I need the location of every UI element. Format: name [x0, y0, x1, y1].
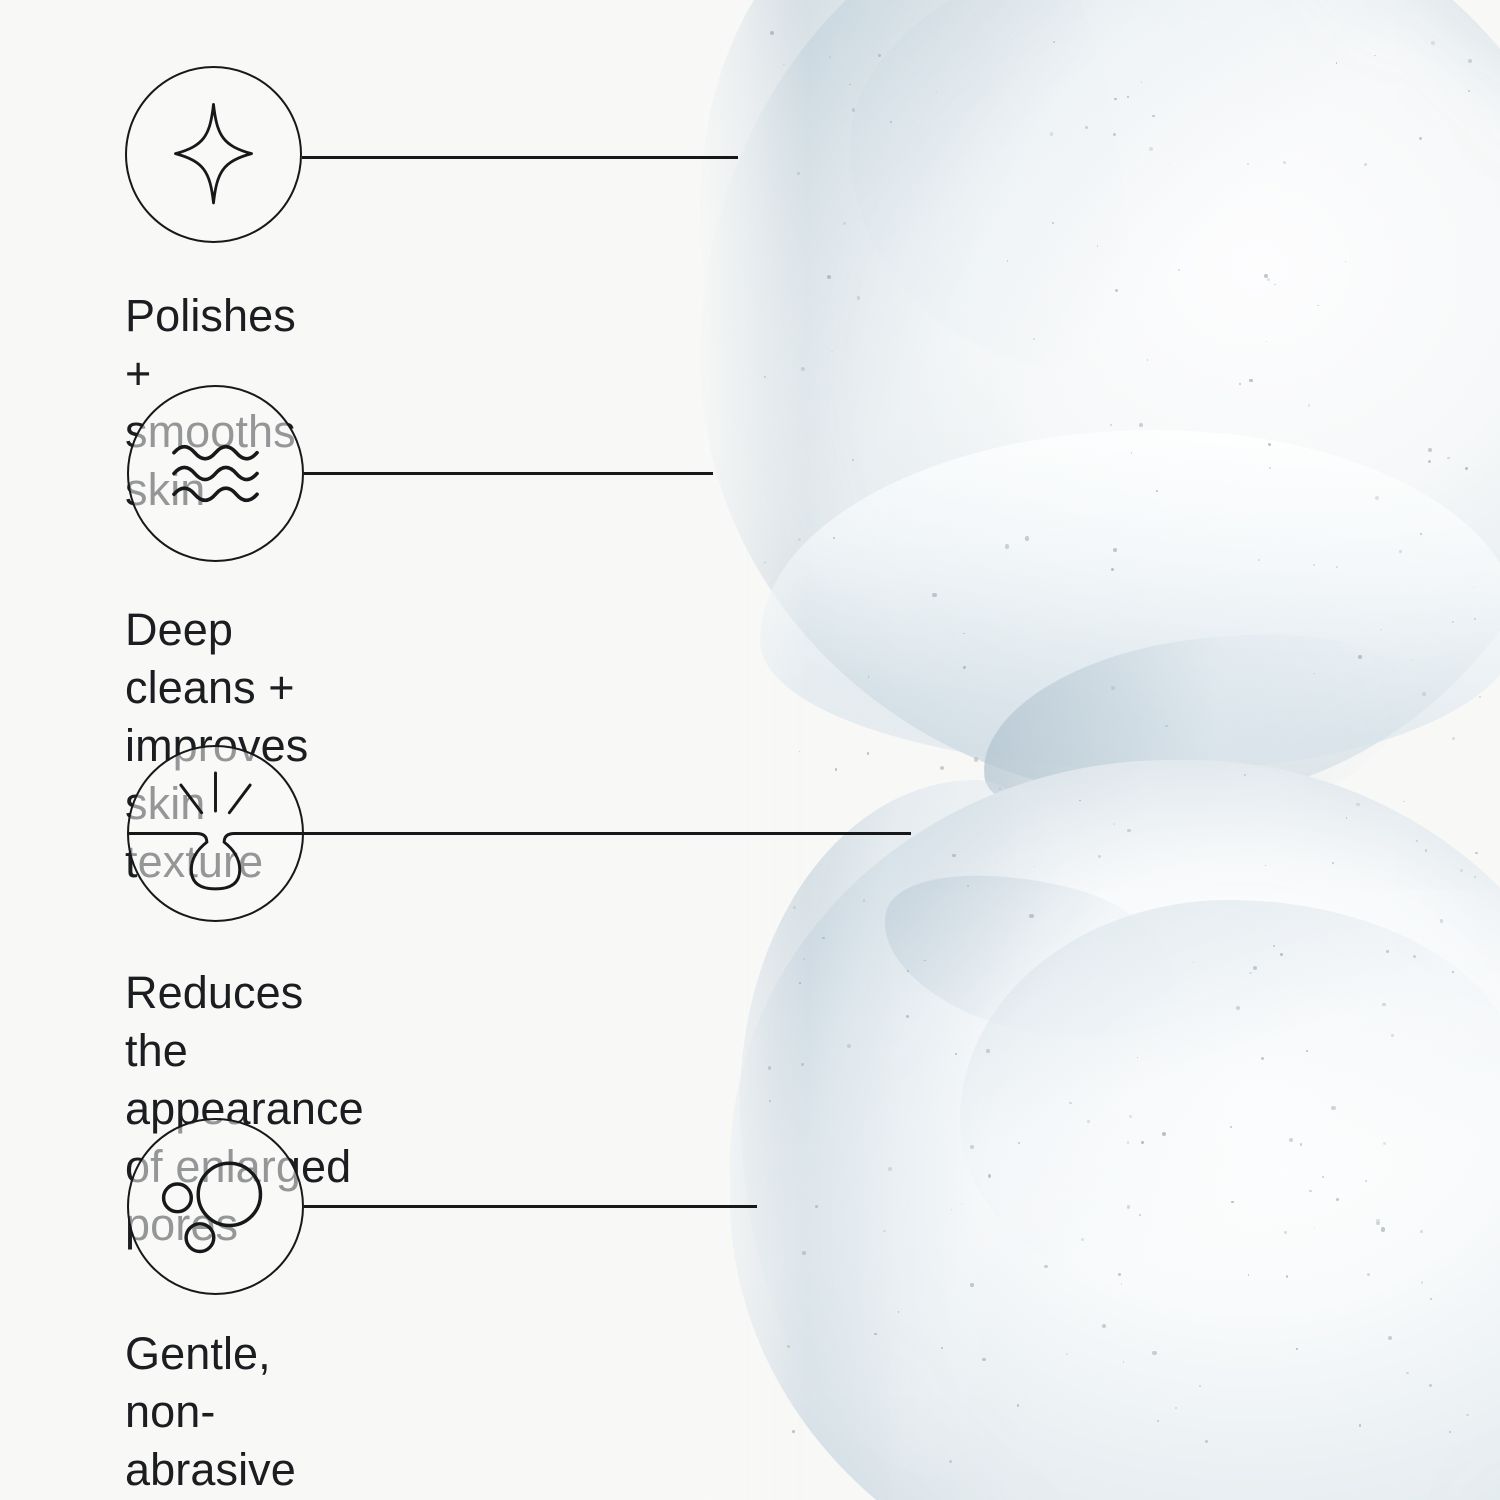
- texture-speck: [988, 1174, 992, 1178]
- texture-speck: [1416, 840, 1418, 842]
- texture-speck: [941, 1347, 943, 1349]
- texture-speck: [1141, 82, 1142, 83]
- texture-speck: [827, 275, 831, 279]
- texture-speck: [833, 537, 836, 540]
- cream-upper-rim: [760, 430, 1500, 770]
- texture-speck: [1249, 972, 1251, 974]
- texture-speck: [1468, 90, 1470, 92]
- texture-speck: [1358, 655, 1362, 659]
- texture-speck: [1110, 424, 1112, 426]
- texture-speck: [1005, 544, 1009, 548]
- texture-speck: [1007, 260, 1009, 262]
- sparkle-icon: [127, 68, 300, 241]
- texture-speck: [1346, 817, 1348, 819]
- texture-speck: [792, 1430, 795, 1433]
- texture-speck: [843, 222, 846, 225]
- texture-speck: [1052, 222, 1054, 224]
- texture-speck: [1449, 1431, 1451, 1433]
- texture-speck: [1157, 1420, 1159, 1422]
- texture-speck: [802, 1251, 806, 1255]
- texture-speck: [1429, 1384, 1432, 1387]
- texture-speck: [1162, 1132, 1166, 1136]
- texture-speck: [1420, 1230, 1423, 1233]
- texture-speck: [1123, 1361, 1124, 1362]
- texture-speck: [1468, 59, 1472, 63]
- texture-speck: [1102, 1324, 1106, 1328]
- texture-speck: [1066, 1353, 1068, 1355]
- texture-speck: [1098, 855, 1101, 858]
- texture-speck: [1375, 496, 1379, 500]
- texture-speck: [1420, 533, 1422, 535]
- texture-speck: [1147, 359, 1148, 360]
- texture-speck: [1383, 1142, 1387, 1146]
- texture-speck: [1149, 147, 1153, 151]
- texture-speck: [1386, 950, 1389, 953]
- texture-speck: [1156, 490, 1158, 492]
- texture-speck: [1419, 137, 1422, 140]
- texture-speck: [999, 787, 1002, 790]
- connector-line-2: [304, 472, 713, 475]
- infographic-canvas: Polishes + smooths skin Deep cleans + im…: [0, 0, 1500, 1500]
- texture-speck: [852, 459, 854, 461]
- texture-speck: [1139, 423, 1143, 427]
- feature-caption-4: Gentle, non-abrasive pumice granules: [125, 1325, 298, 1500]
- texture-speck: [770, 31, 774, 35]
- texture-speck: [1258, 559, 1260, 561]
- texture-speck: [1131, 452, 1133, 454]
- texture-speck: [986, 1049, 990, 1053]
- texture-speck: [949, 1460, 952, 1463]
- texture-speck: [1050, 132, 1054, 136]
- granules-icon-badge: [127, 1118, 304, 1295]
- cream-upper-ridge: [850, 0, 1470, 370]
- texture-speck: [1137, 1057, 1138, 1058]
- texture-speck: [961, 1204, 962, 1205]
- texture-speck: [1111, 686, 1115, 690]
- texture-speck: [764, 562, 766, 564]
- texture-speck: [1248, 1274, 1250, 1276]
- texture-speck: [1391, 1034, 1394, 1037]
- texture-speck: [803, 958, 805, 960]
- texture-speck: [852, 108, 856, 112]
- texture-speck: [1331, 1106, 1335, 1110]
- texture-speck: [1273, 945, 1275, 947]
- texture-speck: [963, 633, 965, 635]
- texture-speck: [1296, 1348, 1297, 1349]
- texture-speck: [1322, 1176, 1324, 1178]
- texture-speck: [1284, 1231, 1287, 1234]
- texture-speck: [1425, 849, 1427, 851]
- texture-speck: [883, 1230, 885, 1232]
- texture-speck: [907, 970, 909, 972]
- cream-lower-shadow: [740, 780, 1120, 1480]
- texture-speck: [1269, 467, 1271, 469]
- texture-speck: [974, 757, 978, 761]
- texture-speck: [936, 92, 938, 94]
- texture-speck: [970, 1283, 974, 1287]
- texture-speck: [1447, 457, 1450, 460]
- texture-speck: [1152, 1351, 1156, 1355]
- texture-speck: [783, 64, 785, 66]
- texture-speck: [1452, 621, 1454, 623]
- texture-speck: [1289, 1138, 1293, 1142]
- cream-scoop-upper: [700, 0, 1500, 800]
- texture-speck: [874, 1333, 877, 1336]
- texture-speck: [1264, 274, 1268, 278]
- texture-speck: [868, 676, 870, 678]
- texture-speck: [955, 1053, 957, 1055]
- texture-speck: [1280, 953, 1283, 956]
- texture-speck: [1111, 568, 1114, 571]
- texture-speck: [1376, 1219, 1380, 1223]
- texture-speck: [963, 666, 966, 669]
- texture-speck: [863, 899, 866, 902]
- sparkle-icon-badge: [125, 66, 302, 243]
- texture-speck: [1364, 163, 1368, 167]
- texture-speck: [951, 1209, 952, 1210]
- texture-speck: [1127, 1205, 1131, 1209]
- texture-speck: [1034, 866, 1036, 868]
- texture-speck: [1359, 1424, 1362, 1427]
- texture-speck: [1381, 1227, 1385, 1231]
- texture-speck: [1097, 245, 1099, 247]
- texture-speck: [1230, 1126, 1232, 1128]
- texture-speck: [787, 1345, 791, 1349]
- texture-speck: [940, 766, 944, 770]
- texture-speck: [798, 538, 801, 541]
- texture-speck: [924, 960, 926, 962]
- texture-speck: [1428, 448, 1432, 452]
- texture-speck: [1231, 1201, 1234, 1204]
- texture-speck: [801, 1063, 805, 1067]
- texture-speck: [1127, 829, 1131, 833]
- texture-speck: [1261, 1057, 1264, 1060]
- texture-speck: [1406, 1372, 1409, 1375]
- texture-speck: [1129, 1115, 1132, 1118]
- texture-speck: [1205, 1440, 1208, 1443]
- texture-speck: [878, 54, 881, 57]
- texture-speck: [847, 1044, 851, 1048]
- texture-speck: [1018, 1142, 1020, 1144]
- connector-line-1: [302, 156, 738, 159]
- texture-speck: [1332, 862, 1335, 865]
- texture-speck: [1412, 660, 1413, 661]
- texture-speck: [1029, 914, 1033, 918]
- texture-speck: [1247, 163, 1249, 165]
- texture-speck: [1127, 1141, 1129, 1143]
- texture-speck: [898, 1311, 899, 1312]
- texture-speck: [1253, 966, 1257, 970]
- texture-speck: [1376, 1222, 1379, 1225]
- texture-speck: [1266, 341, 1268, 343]
- texture-speck: [1460, 869, 1463, 872]
- texture-speck: [967, 885, 969, 887]
- texture-speck: [1309, 1190, 1311, 1192]
- texture-speck: [1399, 550, 1402, 553]
- cream-scoop-lower: [730, 760, 1500, 1500]
- texture-speck: [764, 376, 766, 378]
- texture-speck: [1069, 1102, 1072, 1105]
- cream-crease-upper: [970, 611, 1421, 849]
- texture-speck: [1382, 1003, 1386, 1007]
- texture-speck: [1479, 696, 1481, 698]
- texture-speck: [1113, 548, 1117, 552]
- texture-speck: [1421, 1281, 1424, 1284]
- wavy-lines-icon-badge: [127, 385, 304, 562]
- texture-speck: [1118, 1273, 1121, 1276]
- texture-speck: [1025, 536, 1029, 540]
- connector-line-4: [304, 1205, 757, 1208]
- texture-speck: [1239, 383, 1241, 385]
- texture-speck: [1336, 566, 1338, 568]
- texture-speck: [1440, 919, 1444, 923]
- texture-speck: [1380, 629, 1381, 630]
- texture-speck: [1017, 1404, 1020, 1407]
- texture-speck: [982, 1358, 986, 1362]
- texture-speck: [799, 751, 800, 752]
- texture-speck: [857, 296, 861, 300]
- texture-speck: [1033, 338, 1035, 340]
- texture-speck: [1053, 41, 1055, 43]
- texture-speck: [1249, 379, 1253, 383]
- texture-speck: [1283, 161, 1286, 164]
- texture-speck: [1113, 133, 1116, 136]
- texture-speck: [1475, 852, 1478, 855]
- texture-speck: [1345, 261, 1346, 262]
- texture-speck: [1152, 115, 1155, 118]
- texture-speck: [1428, 460, 1432, 464]
- texture-speck: [1087, 1120, 1090, 1123]
- texture-speck: [831, 351, 832, 352]
- connector-line-3: [270, 832, 911, 835]
- texture-speck: [1413, 955, 1416, 958]
- texture-speck: [1121, 1283, 1123, 1285]
- cream-crease-lower: [866, 846, 1193, 1064]
- texture-speck: [1452, 737, 1455, 740]
- texture-speck: [1127, 96, 1129, 98]
- texture-speck: [888, 1167, 892, 1171]
- texture-speck: [1175, 1407, 1177, 1409]
- texture-speck: [829, 56, 831, 58]
- texture-speck: [867, 752, 870, 755]
- texture-speck: [1044, 1265, 1048, 1269]
- texture-speck: [970, 1145, 974, 1149]
- texture-speck: [1356, 803, 1360, 807]
- texture-speck: [1178, 269, 1180, 271]
- texture-speck: [1081, 1238, 1084, 1241]
- texture-speck: [1313, 673, 1315, 675]
- texture-speck: [1313, 564, 1316, 567]
- texture-speck: [1308, 404, 1310, 406]
- photo-left-fade: [690, 0, 810, 1500]
- texture-speck: [1274, 284, 1275, 285]
- texture-speck: [799, 982, 801, 984]
- texture-speck: [1141, 1141, 1144, 1144]
- texture-speck: [1317, 305, 1318, 306]
- texture-speck: [835, 768, 837, 770]
- texture-speck: [1465, 467, 1468, 470]
- texture-speck: [1336, 62, 1338, 64]
- texture-speck: [1367, 1273, 1370, 1276]
- texture-speck: [1336, 1198, 1339, 1201]
- texture-speck: [1139, 1214, 1141, 1216]
- texture-speck: [801, 367, 805, 371]
- texture-speck: [1422, 692, 1426, 696]
- texture-speck: [952, 854, 956, 858]
- texture-speck: [1265, 865, 1266, 866]
- cream-upper-shadow: [700, 0, 1130, 630]
- wavy-lines-icon: [129, 387, 302, 560]
- texture-speck: [768, 1066, 772, 1070]
- texture-speck: [793, 906, 796, 909]
- texture-speck: [1474, 618, 1476, 620]
- texture-speck: [797, 172, 800, 175]
- texture-speck: [1165, 725, 1168, 728]
- texture-speck: [1267, 278, 1270, 281]
- texture-speck: [1403, 801, 1405, 803]
- texture-speck: [769, 1100, 771, 1102]
- texture-speck: [1300, 1143, 1303, 1146]
- texture-speck: [849, 84, 850, 85]
- texture-speck: [1085, 126, 1088, 129]
- texture-speck: [1306, 1050, 1308, 1052]
- texture-speck: [1474, 876, 1476, 878]
- texture-speck: [1169, 163, 1170, 164]
- granules-icon: [129, 1120, 302, 1293]
- texture-speck: [1193, 962, 1194, 963]
- cream-lower-sweep: [960, 900, 1500, 1300]
- texture-speck: [815, 1205, 819, 1209]
- texture-speck: [1113, 823, 1116, 826]
- texture-speck: [1286, 1275, 1289, 1278]
- texture-speck: [1079, 800, 1081, 802]
- texture-speck: [1115, 289, 1118, 292]
- texture-speck: [1199, 1385, 1201, 1387]
- texture-speck: [1268, 443, 1271, 446]
- texture-speck: [1466, 1414, 1469, 1417]
- texture-speck: [1430, 1298, 1432, 1300]
- texture-speck: [890, 121, 892, 123]
- texture-speck: [1473, 587, 1474, 588]
- texture-speck: [1314, 1228, 1316, 1230]
- texture-speck: [1388, 1336, 1392, 1340]
- texture-speck: [1365, 1180, 1367, 1182]
- texture-speck: [1114, 98, 1116, 100]
- texture-speck: [1452, 971, 1454, 973]
- texture-speck: [932, 593, 936, 597]
- texture-speck: [906, 1015, 909, 1018]
- texture-speck: [1244, 774, 1246, 776]
- texture-speck: [822, 937, 824, 939]
- texture-speck: [1236, 1006, 1240, 1010]
- texture-speck: [1374, 55, 1375, 56]
- texture-speck: [1431, 41, 1435, 45]
